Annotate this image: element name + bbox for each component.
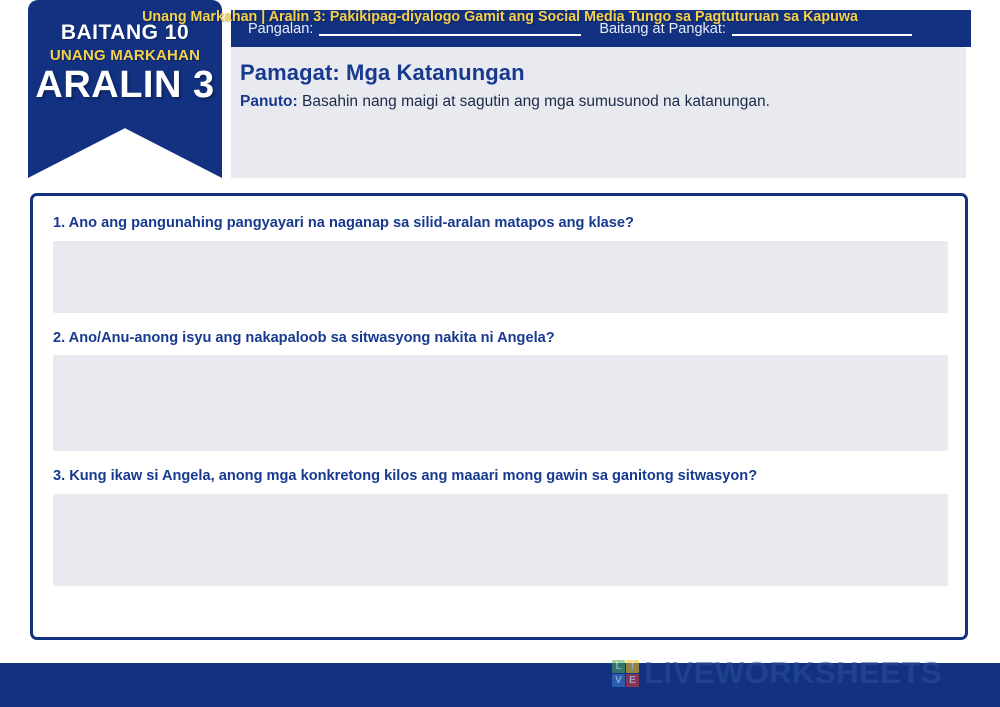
question-1-text: 1. Ano ang pangunahing pangyayari na nag… xyxy=(53,214,943,234)
instruction-label: Panuto: xyxy=(240,93,298,110)
logo-tile-e: E xyxy=(626,674,639,687)
badge-lesson: ARALIN 3 xyxy=(28,66,222,104)
question-3-text: 3. Kung ikaw si Angela, anong mga konkre… xyxy=(53,467,943,487)
footer-text: Unang Markahan | Aralin 3: Pakikipag-diy… xyxy=(0,9,1000,27)
answer-box-3[interactable] xyxy=(53,494,948,586)
header-body: Pamagat: Mga Katanungan Panuto: Basahin … xyxy=(231,47,966,178)
answer-box-2[interactable] xyxy=(53,355,948,451)
instruction-text: Basahin nang maigi at sagutin ang mga su… xyxy=(302,93,770,110)
worksheet-page: BAITANG 10 UNANG MARKAHAN ARALIN 3 Panga… xyxy=(0,0,1000,707)
badge-quarter: UNANG MARKAHAN xyxy=(28,47,222,64)
answer-box-1[interactable] xyxy=(53,241,948,313)
page-title: Pamagat: Mga Katanungan xyxy=(240,60,946,86)
instruction-line: Panuto: Basahin nang maigi at sagutin an… xyxy=(240,92,946,111)
questions-card: 1. Ano ang pangunahing pangyayari na nag… xyxy=(30,193,968,640)
logo-tile-l: L xyxy=(612,660,625,673)
logo-tile-v: V xyxy=(612,674,625,687)
watermark-text: LIVEWORKSHEETS xyxy=(644,655,942,691)
liveworksheets-logo-icon: L I V E xyxy=(612,660,639,687)
question-2-text: 2. Ano/Anu-anong isyu ang nakapaloob sa … xyxy=(53,329,943,349)
logo-tile-i: I xyxy=(626,660,639,673)
watermark: L I V E LIVEWORKSHEETS xyxy=(612,655,942,691)
